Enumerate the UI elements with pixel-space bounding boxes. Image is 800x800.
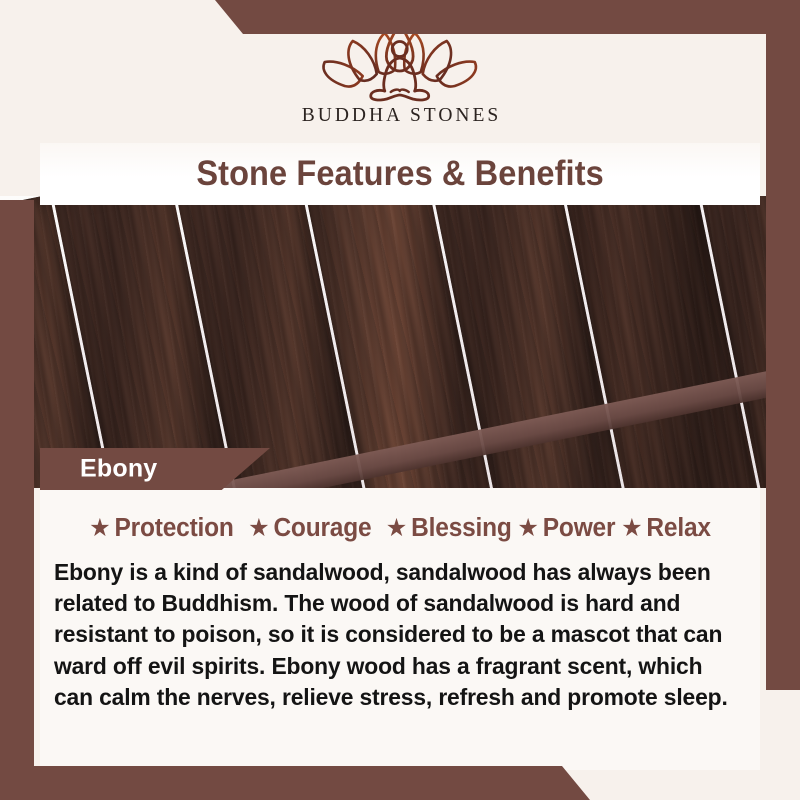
header: BUDDHA STONES [0, 0, 800, 143]
poster-root: BUDDHA STONES Stone Features & Benefits … [0, 0, 800, 800]
content-panel: ★ Protection ★ Courage ★ Blessing ★ Powe… [40, 488, 760, 770]
product-name-ribbon: Ebony [40, 448, 270, 490]
benefit-label: Power [543, 514, 616, 543]
star-icon: ★ [248, 516, 270, 541]
page-title: Stone Features & Benefits [196, 154, 603, 194]
benefit-label: Relax [646, 514, 710, 543]
description-text: Ebony is a kind of sandalwood, sandalwoo… [54, 557, 736, 713]
brand-logo: BUDDHA STONES [299, 16, 502, 127]
lotus-meditation-icon [315, 16, 485, 104]
benefit-item-relax: ★ Relax [621, 514, 711, 543]
star-icon: ★ [386, 516, 408, 541]
benefit-item-courage: ★ Courage [248, 514, 371, 543]
benefit-item-blessing: ★ Blessing [386, 514, 512, 543]
benefit-item-protection: ★ Protection [89, 514, 233, 543]
benefit-label: Courage [273, 514, 371, 543]
star-icon: ★ [621, 516, 643, 541]
star-icon: ★ [89, 516, 111, 541]
benefits-row: ★ Protection ★ Courage ★ Blessing ★ Powe… [62, 514, 738, 543]
benefit-label: Blessing [411, 514, 512, 543]
brand-name: BUDDHA STONES [299, 105, 502, 127]
hero-image [0, 196, 800, 488]
product-name-label: Ebony [80, 455, 157, 484]
title-banner: Stone Features & Benefits [40, 143, 760, 205]
benefit-label: Protection [115, 514, 234, 543]
benefit-item-power: ★ Power [517, 514, 615, 543]
star-icon: ★ [517, 516, 539, 541]
